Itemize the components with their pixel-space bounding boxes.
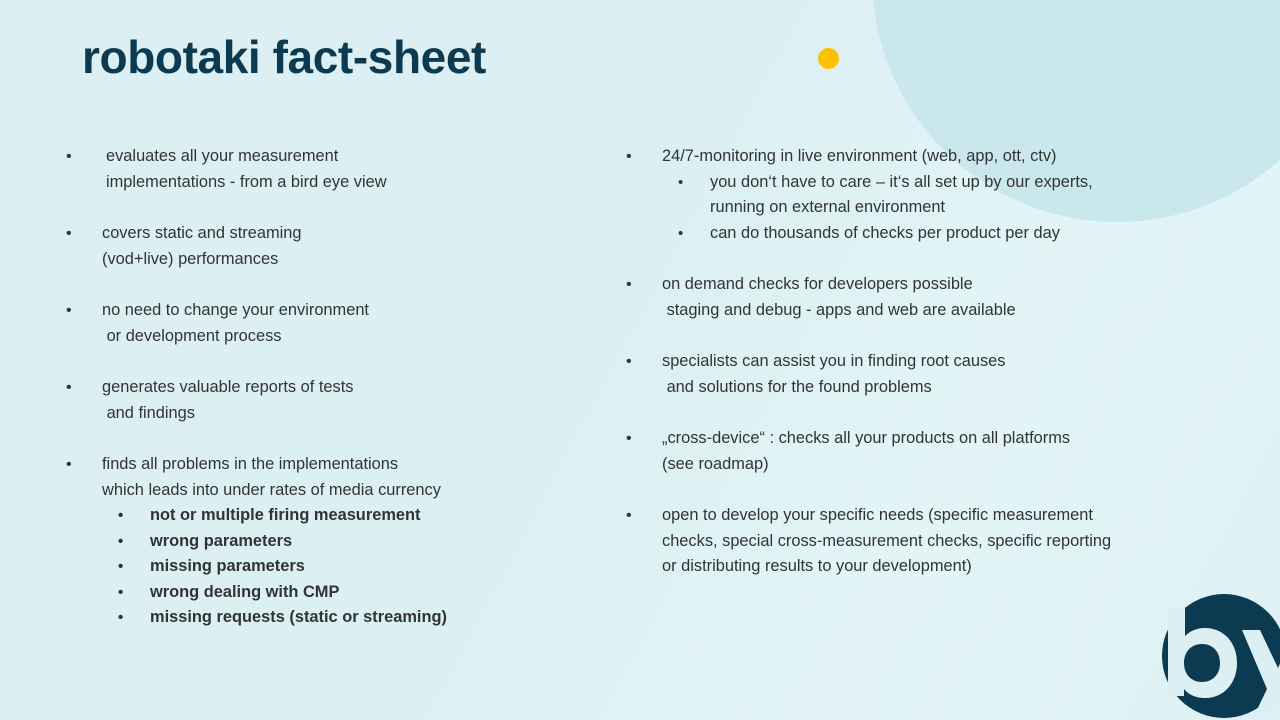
bullet-item: •finds all problems in the implementatio… (58, 452, 598, 503)
bullet-text: 24/7-monitoring in live environment (web… (662, 147, 1056, 165)
bullet-marker-icon: • (626, 503, 632, 529)
bullet-text: on demand checks for developers possible… (662, 275, 1016, 319)
sub-bullet-text: can do thousands of checks per product p… (710, 224, 1060, 242)
bullet-marker-icon: • (66, 144, 72, 170)
bullet-item: •no need to change your environment or d… (58, 298, 598, 349)
bullet-text: specialists can assist you in finding ro… (662, 352, 1005, 396)
sub-bullet-text: wrong parameters (150, 532, 292, 550)
sub-bullet-text: wrong dealing with CMP (150, 583, 339, 601)
bullet-item: •24/7-monitoring in live environment (we… (618, 144, 1218, 170)
bullet-marker-icon: • (626, 144, 632, 170)
page-title: robotaki fact-sheet (82, 32, 486, 83)
bullet-marker-icon: • (118, 605, 123, 631)
sub-bullet-item: •wrong parameters (58, 529, 598, 555)
sub-bullet-list: •not or multiple firing measurement•wron… (58, 503, 598, 631)
bullet-group: •on demand checks for developers possibl… (618, 272, 1218, 323)
bullet-marker-icon: • (118, 580, 123, 606)
bullet-text: generates valuable reports of tests and … (102, 378, 353, 422)
bullet-text: no need to change your environment or de… (102, 301, 369, 345)
bullet-group: •covers static and streaming (vod+live) … (58, 221, 598, 272)
accent-dot-icon (818, 48, 839, 69)
bullet-item: •covers static and streaming (vod+live) … (58, 221, 598, 272)
bullet-item: •on demand checks for developers possibl… (618, 272, 1218, 323)
bullet-text: „cross-device“ : checks all your product… (662, 429, 1070, 473)
sub-bullet-text: missing requests (static or streaming) (150, 608, 447, 626)
bullet-item: •open to develop your specific needs (sp… (618, 503, 1218, 580)
bullet-group: •finds all problems in the implementatio… (58, 452, 598, 631)
sub-bullet-item: •missing requests (static or streaming) (58, 605, 598, 631)
bullet-item: •evaluates all your measurement implemen… (58, 144, 598, 195)
bullet-marker-icon: • (678, 221, 683, 247)
right-column: •24/7-monitoring in live environment (we… (618, 144, 1218, 606)
bullet-text: covers static and streaming (vod+live) p… (102, 224, 302, 268)
bullet-marker-icon: • (118, 503, 123, 529)
bullet-group: •24/7-monitoring in live environment (we… (618, 144, 1218, 246)
bullet-marker-icon: • (118, 554, 123, 580)
bullet-item: •specialists can assist you in finding r… (618, 349, 1218, 400)
bullet-marker-icon: • (66, 452, 72, 478)
bullet-marker-icon: • (66, 298, 72, 324)
bullet-group: •„cross-device“ : checks all your produc… (618, 426, 1218, 477)
bullet-marker-icon: • (626, 349, 632, 375)
bullet-group: •generates valuable reports of tests and… (58, 375, 598, 426)
by-logo (1162, 594, 1280, 720)
bullet-group: •specialists can assist you in finding r… (618, 349, 1218, 400)
sub-bullet-list: •you don‘t have to care – it‘s all set u… (618, 170, 1218, 247)
sub-bullet-item: •can do thousands of checks per product … (618, 221, 1218, 247)
sub-bullet-text: you don‘t have to care – it‘s all set up… (710, 173, 1093, 217)
bullet-marker-icon: • (678, 170, 683, 196)
bullet-group: •open to develop your specific needs (sp… (618, 503, 1218, 580)
sub-bullet-text: not or multiple firing measurement (150, 506, 420, 524)
bullet-marker-icon: • (626, 272, 632, 298)
sub-bullet-text: missing parameters (150, 557, 305, 575)
bullet-item: •generates valuable reports of tests and… (58, 375, 598, 426)
sub-bullet-item: •wrong dealing with CMP (58, 580, 598, 606)
sub-bullet-item: •not or multiple firing measurement (58, 503, 598, 529)
bullet-marker-icon: • (66, 221, 72, 247)
slide-canvas: robotaki fact-sheet •evaluates all your … (0, 0, 1280, 720)
bullet-group: •evaluates all your measurement implemen… (58, 144, 598, 195)
left-column: •evaluates all your measurement implemen… (58, 144, 598, 657)
bullet-text: evaluates all your measurement implement… (106, 147, 387, 191)
bullet-item: •„cross-device“ : checks all your produc… (618, 426, 1218, 477)
bullet-text: finds all problems in the implementation… (102, 455, 441, 499)
bullet-marker-icon: • (626, 426, 632, 452)
bullet-marker-icon: • (118, 529, 123, 555)
bullet-group: •no need to change your environment or d… (58, 298, 598, 349)
bullet-text: open to develop your specific needs (spe… (662, 506, 1111, 575)
sub-bullet-item: •missing parameters (58, 554, 598, 580)
sub-bullet-item: •you don‘t have to care – it‘s all set u… (618, 170, 1218, 221)
bullet-marker-icon: • (66, 375, 72, 401)
